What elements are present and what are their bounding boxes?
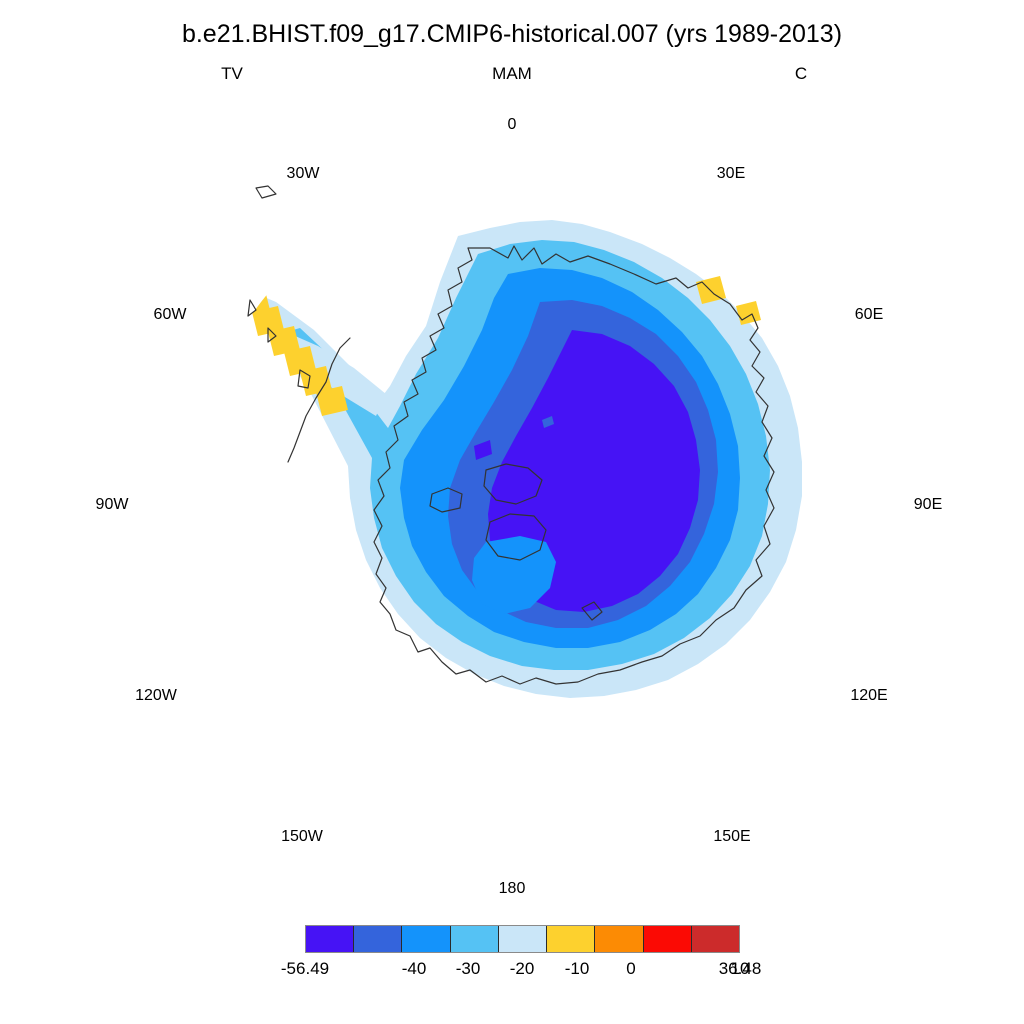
colorbar-swatch-8[interactable] (692, 926, 739, 952)
colorbar-swatch-2[interactable] (402, 926, 450, 952)
contour-fill-layer (236, 220, 802, 698)
colorbar-tick-label-2: -30 (456, 959, 481, 979)
colorbar-swatch-0[interactable] (306, 926, 354, 952)
longitude-label-90e: 90E (914, 496, 942, 514)
colorbar-swatch-3[interactable] (451, 926, 499, 952)
subtitle-units: C (795, 64, 807, 84)
antarctica-contour-plot (190, 170, 850, 830)
colorbar[interactable] (305, 925, 740, 953)
longitude-label-180: 180 (499, 880, 526, 898)
colorbar-swatch-6[interactable] (595, 926, 643, 952)
colorbar-swatch-5[interactable] (547, 926, 595, 952)
colorbar-swatch-4[interactable] (499, 926, 547, 952)
figure-canvas: b.e21.BHIST.f09_g17.CMIP6-historical.007… (0, 0, 1024, 1024)
colorbar-tick-label-5: 0 (626, 959, 635, 979)
longitude-label-150w: 150W (281, 828, 323, 846)
colorbar-swatch-7[interactable] (644, 926, 692, 952)
longitude-label-150e: 150E (713, 828, 750, 846)
figure-title: b.e21.BHIST.f09_g17.CMIP6-historical.007… (182, 20, 842, 49)
colorbar-tick-label-4: -10 (565, 959, 590, 979)
longitude-label-0: 0 (508, 116, 517, 134)
longitude-label-120e: 120E (850, 687, 887, 705)
longitude-label-60e: 60E (855, 306, 883, 324)
colorbar-tick-label-1: -40 (402, 959, 427, 979)
longitude-label-60w: 60W (154, 306, 187, 324)
longitude-label-120w: 120W (135, 687, 177, 705)
subtitle-season: MAM (492, 64, 532, 84)
colorbar-tick-label-0: -56.49 (281, 959, 329, 979)
longitude-label-90w: 90W (96, 496, 129, 514)
colorbar-tick-label-7: 36.48 (719, 959, 762, 979)
colorbar-tick-label-3: -20 (510, 959, 535, 979)
colorbar-swatch-1[interactable] (354, 926, 402, 952)
polar-stereographic-map (190, 170, 850, 830)
subtitle-variable: TV (221, 64, 243, 84)
